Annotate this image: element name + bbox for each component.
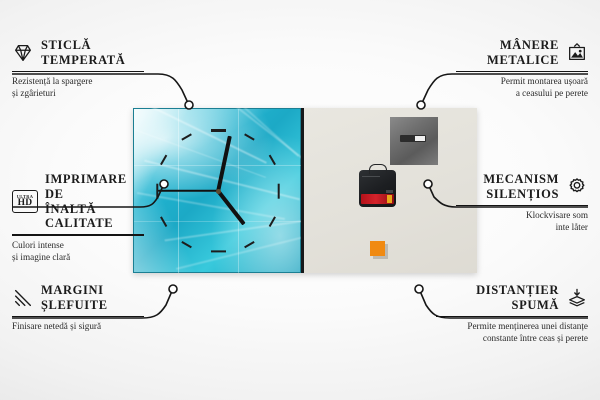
callout-metal-handles: MÂNERE METALICE Permit montarea ușoară a… [456,38,588,100]
feather-streak [209,108,299,157]
infographic-canvas: STICLĂ TEMPERATĂ Rezistență la spargere … [0,0,600,400]
clock-hand-second [158,190,218,192]
mechanism-detail [386,190,393,193]
diagonal-lines-icon [12,287,34,309]
clock-tick [160,217,167,227]
callout-rule [436,316,588,318]
clock-tick [244,133,254,140]
callout-title: MÂNERE METALICE [487,38,559,68]
callout-title: IMPRIMARE DE ÎNALTĂ CALITATE [45,172,144,231]
callout-title: MECANISM SILENȚIOS [483,172,559,202]
hanger-slot [400,135,426,142]
clock-center-hub [216,189,221,194]
arrow-into-stack-icon [566,287,588,309]
glass-reflection [134,221,302,222]
mechanism-detail [362,176,380,177]
callout-tempered-glass: STICLĂ TEMPERATĂ Rezistență la spargere … [12,38,144,100]
callout-heading: MÂNERE METALICE [456,38,588,68]
callout-rule [456,71,588,73]
diamond-icon [12,42,34,64]
battery [361,194,394,204]
callout-high-quality-print: ultra HD IMPRIMARE DE ÎNALTĂ CALITATE Cu… [12,172,144,263]
callout-subtitle: Rezistență la spargere și zgârieturi [12,75,144,100]
callout-rule [456,205,588,207]
callout-polished-edges: MARGINI ȘLEFUITE Finisare netedă și sigu… [12,283,144,332]
glass-reflection [238,109,239,273]
callout-title: MARGINI ȘLEFUITE [41,283,108,313]
product-photo [133,108,477,273]
mechanism-loop [369,164,387,174]
ultra-hd-icon: ultra HD [12,190,38,213]
callout-rule [12,71,144,73]
clock-mechanism [359,170,396,207]
gear-icon [566,176,588,198]
callout-title: STICLĂ TEMPERATĂ [41,38,125,68]
callout-heading: DISTANȚIER SPUMĂ [436,283,588,313]
clock-tick [182,242,192,249]
callout-heading: MECANISM SILENȚIOS [456,172,588,202]
ultra-hd-bottom: HD [18,199,33,209]
clock-tick [277,183,279,198]
callout-subtitle: Klockvisare som inte låter [456,209,588,234]
callout-silent-mechanism: MECANISM SILENȚIOS Klockvisare som inte … [456,172,588,234]
callout-subtitle: Permite menținerea unei distanțe constan… [436,320,588,345]
clock-tick [182,133,192,140]
clock-tick [211,250,226,252]
callout-heading: STICLĂ TEMPERATĂ [12,38,144,68]
metal-hanger [390,117,438,165]
callout-rule [12,234,144,236]
feather-streak [137,192,285,220]
feather-streak [176,234,312,269]
callout-heading: MARGINI ȘLEFUITE [12,283,144,313]
callout-heading: ultra HD IMPRIMARE DE ÎNALTĂ CALITATE [12,172,144,231]
clock-tick [211,129,226,131]
clock-tick [269,155,276,165]
foam-spacer [370,241,385,256]
callout-subtitle: Permit montarea ușoară a ceasului pe per… [456,75,588,100]
callout-subtitle: Culori intense și imagine clară [12,239,144,264]
callout-rule [12,316,144,318]
callout-foam-spacer: DISTANȚIER SPUMĂ Permite menținerea unei… [436,283,588,345]
callout-subtitle: Finisare netedă și sigură [12,320,144,332]
clock-tick [160,155,167,165]
glass-reflection [134,165,302,166]
callout-title: DISTANȚIER SPUMĂ [476,283,559,313]
clock-face [133,108,301,273]
picture-frame-icon [566,42,588,64]
clock-tick [244,242,254,249]
clock-back-panel [301,108,477,273]
